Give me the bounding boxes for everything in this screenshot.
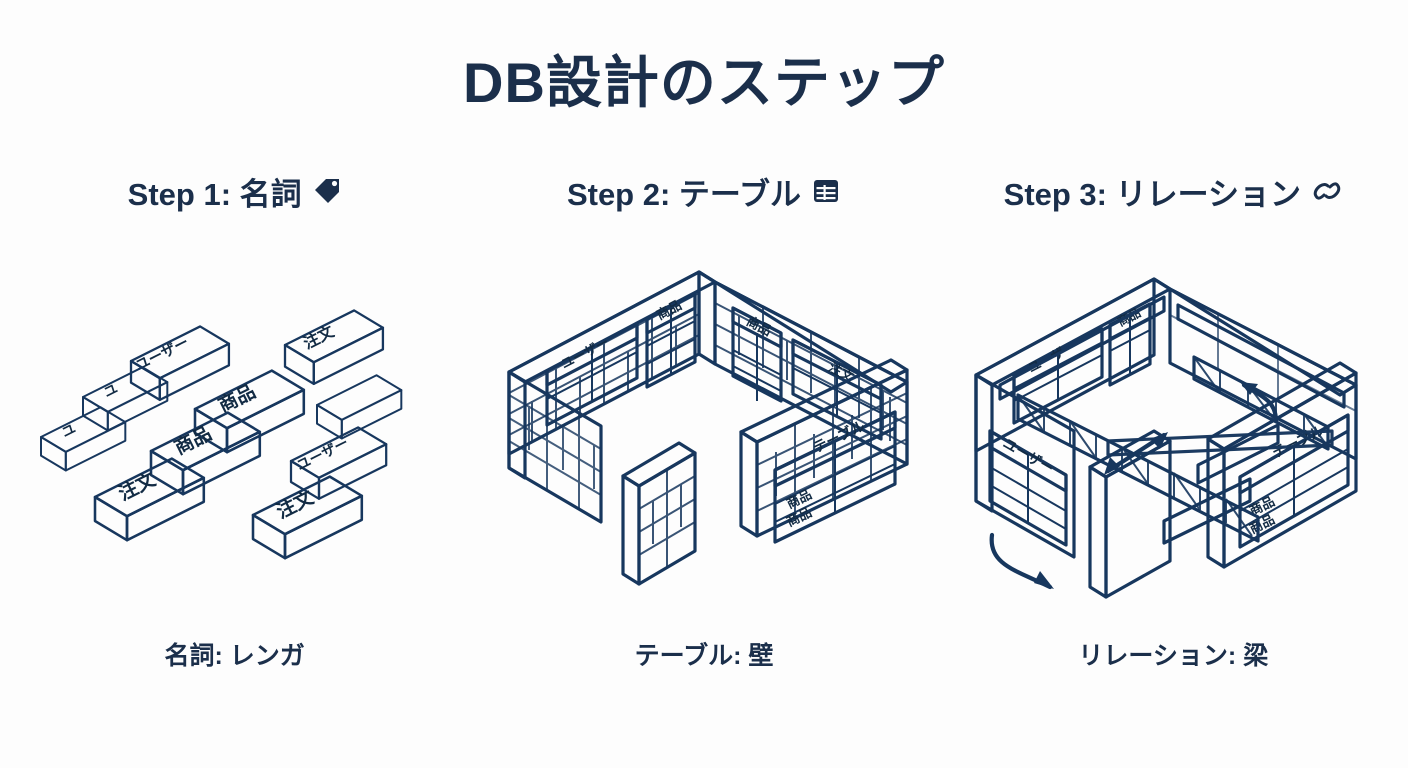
step-2-illustration: ユーザー 商品 — [489, 234, 919, 634]
step-2-caption: テーブル: 壁 — [469, 636, 938, 672]
wall-back-left: ユーザー 商品 — [509, 272, 715, 454]
panel-label: テーブル — [810, 417, 867, 456]
step-1-heading-label: Step 1: 名詞 — [128, 169, 302, 214]
step-3-illustration: ユーザー 商品 — [958, 234, 1388, 634]
brick-label: 注文 — [114, 467, 159, 505]
wall3-front-left: ユーザー — [976, 375, 1074, 557]
brick-label: 注文 — [272, 485, 317, 523]
step-2-heading: Step 2: テーブル — [567, 168, 841, 214]
step-3-heading: Step 3: リレーション — [1004, 168, 1343, 214]
step-2-heading-label: Step 2: テーブル — [567, 169, 801, 214]
brick-label: 注文 — [300, 322, 337, 353]
link-icon — [1311, 176, 1343, 206]
step-3-caption: リレーション: 梁 — [939, 636, 1408, 672]
step-column-1: Step 1: 名詞 — [0, 168, 469, 728]
tag-icon — [312, 176, 342, 206]
panel3-user-front: ユーザー — [990, 431, 1066, 545]
curved-arrow-down-right — [992, 535, 1054, 589]
step-1-caption: 名詞: レンガ — [0, 636, 469, 672]
step-1-heading: Step 1: 名詞 — [128, 168, 342, 214]
steps-row: Step 1: 名詞 — [0, 168, 1408, 728]
step-3-heading-label: Step 3: リレーション — [1004, 169, 1301, 214]
brick-label: 商品 — [170, 422, 215, 460]
step-1-illustration: ユーザー 注文 ユ 商品 — [35, 234, 435, 634]
brick-label: ユ — [101, 381, 120, 401]
step-column-2: Step 2: テーブル — [469, 168, 938, 728]
brick-label: 商品 — [214, 380, 259, 418]
page-title: DB設計のステップ — [0, 38, 1408, 119]
infographic-page: DB設計のステップ Step 1: 名詞 — [0, 0, 1408, 768]
table-icon — [811, 176, 841, 206]
step-column-3: Step 3: リレーション — [939, 168, 1408, 728]
brick-label: ユ — [59, 421, 78, 441]
wall-center-pillar — [623, 443, 695, 584]
